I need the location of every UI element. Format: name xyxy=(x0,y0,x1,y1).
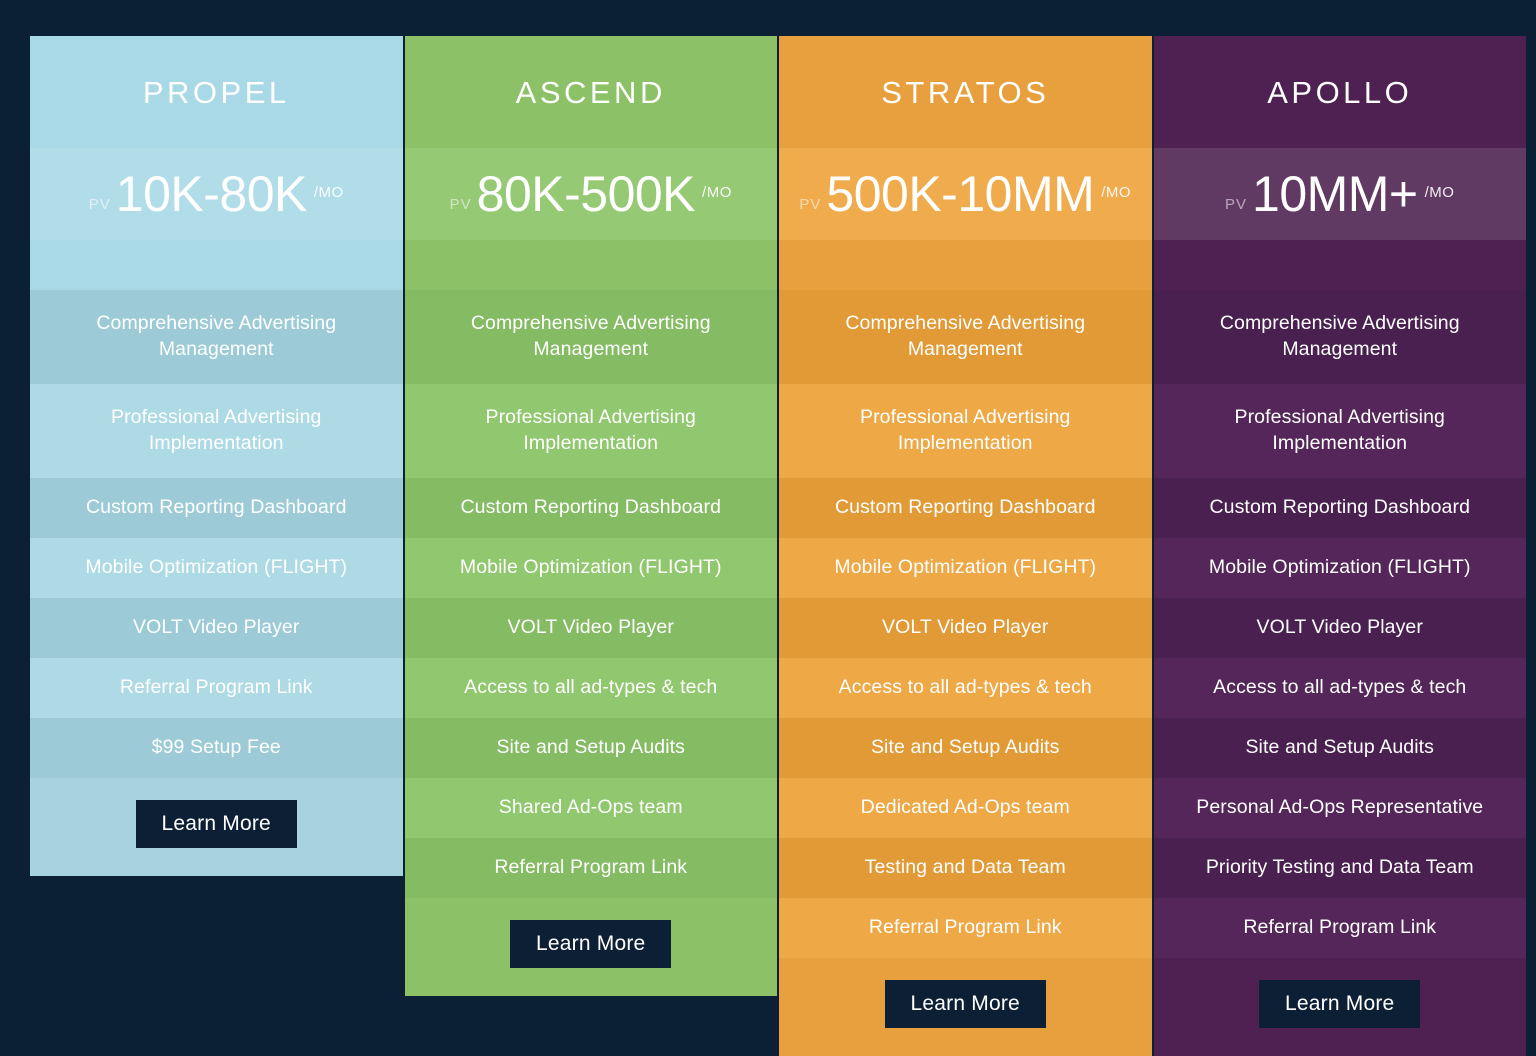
feature-list: Comprehensive Advertising ManagementProf… xyxy=(30,290,403,778)
cta-band: Learn More xyxy=(1154,958,1527,1056)
plan-column-stratos: STRATOSPV500K-10MM/MOComprehensive Adver… xyxy=(779,36,1152,1056)
feature-row: VOLT Video Player xyxy=(405,598,778,658)
feature-row: Access to all ad-types & tech xyxy=(1154,658,1527,718)
feature-label: Access to all ad-types & tech xyxy=(839,675,1092,701)
feature-row: Mobile Optimization (FLIGHT) xyxy=(779,538,1152,598)
feature-row: Referral Program Link xyxy=(779,898,1152,958)
feature-label: Mobile Optimization (FLIGHT) xyxy=(460,555,722,581)
feature-label: Referral Program Link xyxy=(869,915,1062,941)
plan-price-band: PV10K-80K/MO xyxy=(30,148,403,240)
feature-row: Testing and Data Team xyxy=(779,838,1152,898)
price-value: 80K-500K xyxy=(477,169,695,219)
feature-row: Shared Ad-Ops team xyxy=(405,778,778,838)
feature-label: Site and Setup Audits xyxy=(496,735,685,761)
feature-list: Comprehensive Advertising ManagementProf… xyxy=(1154,290,1527,958)
feature-label: VOLT Video Player xyxy=(133,615,299,641)
feature-row: Referral Program Link xyxy=(30,658,403,718)
plan-column-ascend: ASCENDPV80K-500K/MOComprehensive Adverti… xyxy=(405,36,778,996)
plan-price: PV10K-80K/MO xyxy=(89,169,344,219)
feature-row: Comprehensive Advertising Management xyxy=(1154,290,1527,384)
feature-label: Custom Reporting Dashboard xyxy=(835,495,1096,521)
feature-label: Mobile Optimization (FLIGHT) xyxy=(834,555,1096,581)
feature-row: Access to all ad-types & tech xyxy=(405,658,778,718)
feature-label: Referral Program Link xyxy=(120,675,313,701)
plan-price-band: PV10MM+/MO xyxy=(1154,148,1527,240)
feature-row: $99 Setup Fee xyxy=(30,718,403,778)
plan-title: ASCEND xyxy=(516,77,666,108)
feature-label: Professional Advertising Implementation xyxy=(793,405,1138,456)
plan-price: PV10MM+/MO xyxy=(1225,169,1454,219)
price-suffix-label: /MO xyxy=(1101,184,1131,201)
feature-label: Professional Advertising Implementation xyxy=(1168,405,1513,456)
feature-label: Comprehensive Advertising Management xyxy=(44,311,389,362)
plan-title: APOLLO xyxy=(1267,77,1412,108)
feature-label: Priority Testing and Data Team xyxy=(1206,855,1474,881)
feature-row: Referral Program Link xyxy=(1154,898,1527,958)
feature-row: Dedicated Ad-Ops team xyxy=(779,778,1152,838)
price-value: 10MM+ xyxy=(1252,169,1418,219)
feature-label: Custom Reporting Dashboard xyxy=(1209,495,1470,521)
price-value: 10K-80K xyxy=(116,169,307,219)
feature-row: Site and Setup Audits xyxy=(779,718,1152,778)
plan-price: PV80K-500K/MO xyxy=(450,169,732,219)
price-suffix-label: /MO xyxy=(702,184,732,201)
learn-more-button[interactable]: Learn More xyxy=(136,800,297,848)
feature-label: Mobile Optimization (FLIGHT) xyxy=(1209,555,1471,581)
feature-row: Personal Ad-Ops Representative xyxy=(1154,778,1527,838)
feature-row: Comprehensive Advertising Management xyxy=(30,290,403,384)
feature-row: Custom Reporting Dashboard xyxy=(779,478,1152,538)
feature-row: Site and Setup Audits xyxy=(1154,718,1527,778)
price-value: 500K-10MM xyxy=(826,169,1094,219)
plan-title-band: STRATOS xyxy=(779,36,1152,148)
plan-title: STRATOS xyxy=(881,77,1049,108)
price-prefix-label: PV xyxy=(450,196,472,213)
learn-more-button[interactable]: Learn More xyxy=(1259,980,1420,1028)
feature-row: Custom Reporting Dashboard xyxy=(1154,478,1527,538)
feature-label: Dedicated Ad-Ops team xyxy=(861,795,1070,821)
feature-label: Site and Setup Audits xyxy=(1245,735,1434,761)
price-prefix-label: PV xyxy=(1225,196,1247,213)
pricing-table: PROPELPV10K-80K/MOComprehensive Advertis… xyxy=(30,36,1526,945)
plan-price: PV500K-10MM/MO xyxy=(799,169,1131,219)
feature-row: Priority Testing and Data Team xyxy=(1154,838,1527,898)
feature-label: Access to all ad-types & tech xyxy=(1213,675,1466,701)
learn-more-button[interactable]: Learn More xyxy=(885,980,1046,1028)
cta-band: Learn More xyxy=(30,778,403,876)
feature-row: Professional Advertising Implementation xyxy=(1154,384,1527,478)
plan-title-band: ASCEND xyxy=(405,36,778,148)
feature-list: Comprehensive Advertising ManagementProf… xyxy=(779,290,1152,958)
price-suffix-label: /MO xyxy=(1425,184,1455,201)
feature-label: Mobile Optimization (FLIGHT) xyxy=(85,555,347,581)
feature-row: Professional Advertising Implementation xyxy=(405,384,778,478)
feature-list: Comprehensive Advertising ManagementProf… xyxy=(405,290,778,898)
feature-row: Mobile Optimization (FLIGHT) xyxy=(1154,538,1527,598)
plan-title-band: APOLLO xyxy=(1154,36,1527,148)
feature-row: Comprehensive Advertising Management xyxy=(405,290,778,384)
price-prefix-label: PV xyxy=(89,196,111,213)
feature-row: VOLT Video Player xyxy=(1154,598,1527,658)
plan-price-band: PV80K-500K/MO xyxy=(405,148,778,240)
plan-title: PROPEL xyxy=(143,77,290,108)
feature-row: Custom Reporting Dashboard xyxy=(30,478,403,538)
feature-row: Mobile Optimization (FLIGHT) xyxy=(405,538,778,598)
feature-row: Site and Setup Audits xyxy=(405,718,778,778)
plan-title-band: PROPEL xyxy=(30,36,403,148)
header-spacer xyxy=(1154,240,1527,290)
header-spacer xyxy=(779,240,1152,290)
feature-row: VOLT Video Player xyxy=(30,598,403,658)
feature-row: Professional Advertising Implementation xyxy=(30,384,403,478)
feature-label: Custom Reporting Dashboard xyxy=(460,495,721,521)
feature-label: Referral Program Link xyxy=(1243,915,1436,941)
feature-label: Custom Reporting Dashboard xyxy=(86,495,347,521)
feature-label: Personal Ad-Ops Representative xyxy=(1196,795,1483,821)
feature-label: VOLT Video Player xyxy=(882,615,1048,641)
header-spacer xyxy=(30,240,403,290)
feature-label: Comprehensive Advertising Management xyxy=(1168,311,1513,362)
feature-row: VOLT Video Player xyxy=(779,598,1152,658)
feature-label: Shared Ad-Ops team xyxy=(499,795,683,821)
plan-column-apollo: APOLLOPV10MM+/MOComprehensive Advertisin… xyxy=(1154,36,1527,1056)
feature-label: $99 Setup Fee xyxy=(152,735,281,761)
price-suffix-label: /MO xyxy=(314,184,344,201)
feature-label: Access to all ad-types & tech xyxy=(464,675,717,701)
feature-row: Access to all ad-types & tech xyxy=(779,658,1152,718)
feature-row: Referral Program Link xyxy=(405,838,778,898)
feature-row: Mobile Optimization (FLIGHT) xyxy=(30,538,403,598)
learn-more-button[interactable]: Learn More xyxy=(510,920,671,968)
feature-label: VOLT Video Player xyxy=(508,615,674,641)
cta-band: Learn More xyxy=(405,898,778,996)
cta-band: Learn More xyxy=(779,958,1152,1056)
feature-label: Comprehensive Advertising Management xyxy=(793,311,1138,362)
feature-label: Comprehensive Advertising Management xyxy=(419,311,764,362)
feature-row: Comprehensive Advertising Management xyxy=(779,290,1152,384)
feature-label: Testing and Data Team xyxy=(865,855,1066,881)
feature-label: Referral Program Link xyxy=(494,855,687,881)
feature-label: Site and Setup Audits xyxy=(871,735,1060,761)
header-spacer xyxy=(405,240,778,290)
feature-label: Professional Advertising Implementation xyxy=(419,405,764,456)
plan-price-band: PV500K-10MM/MO xyxy=(779,148,1152,240)
price-prefix-label: PV xyxy=(799,196,821,213)
feature-row: Custom Reporting Dashboard xyxy=(405,478,778,538)
plan-column-propel: PROPELPV10K-80K/MOComprehensive Advertis… xyxy=(30,36,403,876)
feature-label: VOLT Video Player xyxy=(1257,615,1423,641)
feature-label: Professional Advertising Implementation xyxy=(44,405,389,456)
feature-row: Professional Advertising Implementation xyxy=(779,384,1152,478)
